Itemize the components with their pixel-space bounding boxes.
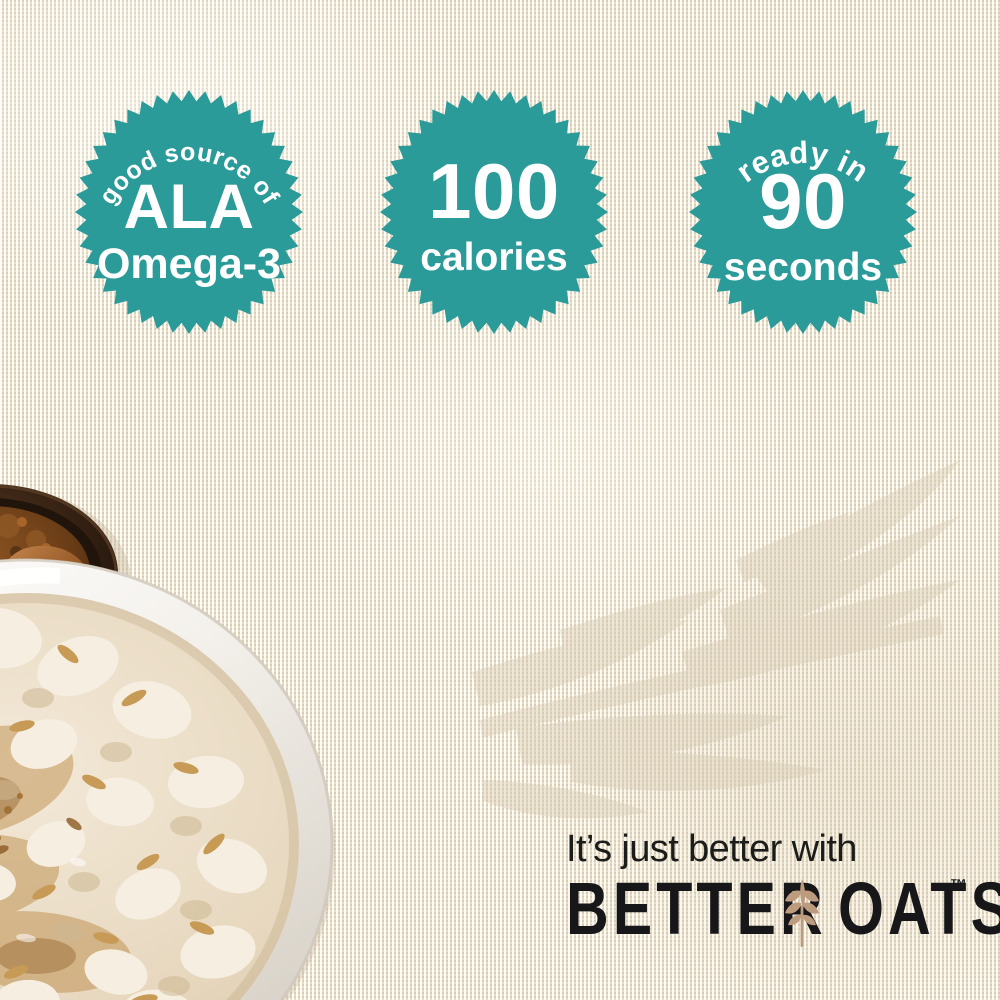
logo-tagline: It’s just better with <box>566 830 958 868</box>
starburst-badge-icon: ready in <box>681 86 925 338</box>
starburst-badge-icon <box>372 86 616 338</box>
wheat-sprig-icon <box>779 875 825 947</box>
oatmeal-bowl <box>0 560 470 1000</box>
badge-100-calories[interactable]: 100 calories <box>372 86 616 338</box>
badge-row: good source of ALA Omega-3 100 calories <box>0 0 1000 360</box>
trademark-symbol: ™ <box>950 876 967 896</box>
starburst-badge-icon: good source of <box>67 86 311 338</box>
bowl-of-oatmeal-photo <box>0 452 470 1000</box>
badge-ala-omega-3[interactable]: good source of ALA Omega-3 <box>67 86 311 338</box>
poster-canvas: good source of ALA Omega-3 100 calories <box>0 0 1000 1000</box>
brand-logo[interactable]: It’s just better with BETTER OATS ™ <box>566 830 966 940</box>
badge-90-seconds[interactable]: ready in 90 seconds <box>681 86 925 338</box>
logo-word-oats: OATS <box>838 872 1000 946</box>
